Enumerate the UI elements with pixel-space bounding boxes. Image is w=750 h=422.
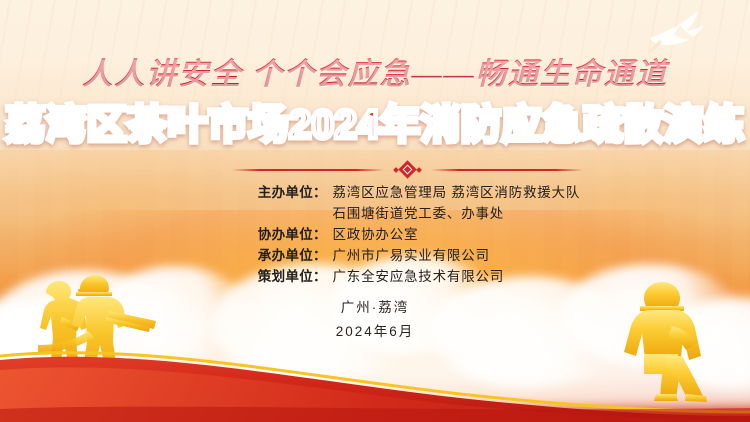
organizer-row: 协办单位 ： 区政协办公室 bbox=[229, 223, 521, 243]
organizer-value: 荔湾区应急管理局 荔湾区消防救援大队 bbox=[333, 181, 581, 201]
divider-line-right bbox=[431, 169, 583, 171]
organizer-row: 承办单位 ： 广州市广易实业有限公司 bbox=[229, 244, 521, 264]
organizer-colon: ： bbox=[313, 244, 333, 264]
poster-place: 广州·荔湾 bbox=[0, 296, 750, 320]
organizer-colon: ： bbox=[313, 181, 333, 201]
organizer-label: 协办单位 bbox=[229, 223, 313, 243]
poster-main-title: 荔湾区茶叶市场2024年消防应急疏散演练 荔湾区茶叶市场2024年消防应急疏散演… bbox=[0, 100, 750, 150]
organizer-row: 主办单位 ： 石围塘街道党工委、办事处 bbox=[229, 202, 521, 222]
organizer-value: 广州市广易实业有限公司 bbox=[333, 244, 490, 264]
fire-drill-poster: 人人讲安全 个个会应急——畅通生命通道 荔湾区茶叶市场2024年消防应急疏散演练… bbox=[0, 0, 750, 422]
organizer-list: 主办单位 ： 荔湾区应急管理局 荔湾区消防救援大队 主办单位 ： 石围塘街道党工… bbox=[0, 181, 750, 285]
poster-meta: 广州·荔湾 2024年6月 bbox=[0, 296, 750, 343]
main-title-text: 荔湾区茶叶市场2024年消防应急疏散演练 bbox=[6, 103, 745, 147]
organizer-value: 区政协办公室 bbox=[333, 223, 419, 243]
organizer-colon: ： bbox=[313, 223, 333, 243]
organizer-label: 策划单位 bbox=[229, 265, 313, 285]
organizer-label: 主办单位 bbox=[229, 181, 313, 201]
poster-subtitle: 人人讲安全 个个会应急——畅通生命通道 bbox=[0, 49, 750, 93]
organizer-colon: ： bbox=[313, 265, 333, 285]
poster-date: 2024年6月 bbox=[0, 320, 750, 344]
divider-line-left bbox=[232, 169, 384, 171]
background-paper-streaks bbox=[0, 0, 750, 190]
organizer-row: 主办单位 ： 荔湾区应急管理局 荔湾区消防救援大队 bbox=[229, 181, 521, 201]
organizer-row: 策划单位 ： 广东全安应急技术有限公司 bbox=[229, 265, 521, 285]
organizer-value: 广东全安应急技术有限公司 bbox=[333, 265, 505, 285]
organizer-value: 石围塘街道党工委、办事处 bbox=[333, 202, 505, 222]
diamond-ornament-icon bbox=[394, 163, 421, 176]
decorative-divider bbox=[0, 163, 750, 176]
organizer-label: 承办单位 bbox=[229, 244, 313, 264]
